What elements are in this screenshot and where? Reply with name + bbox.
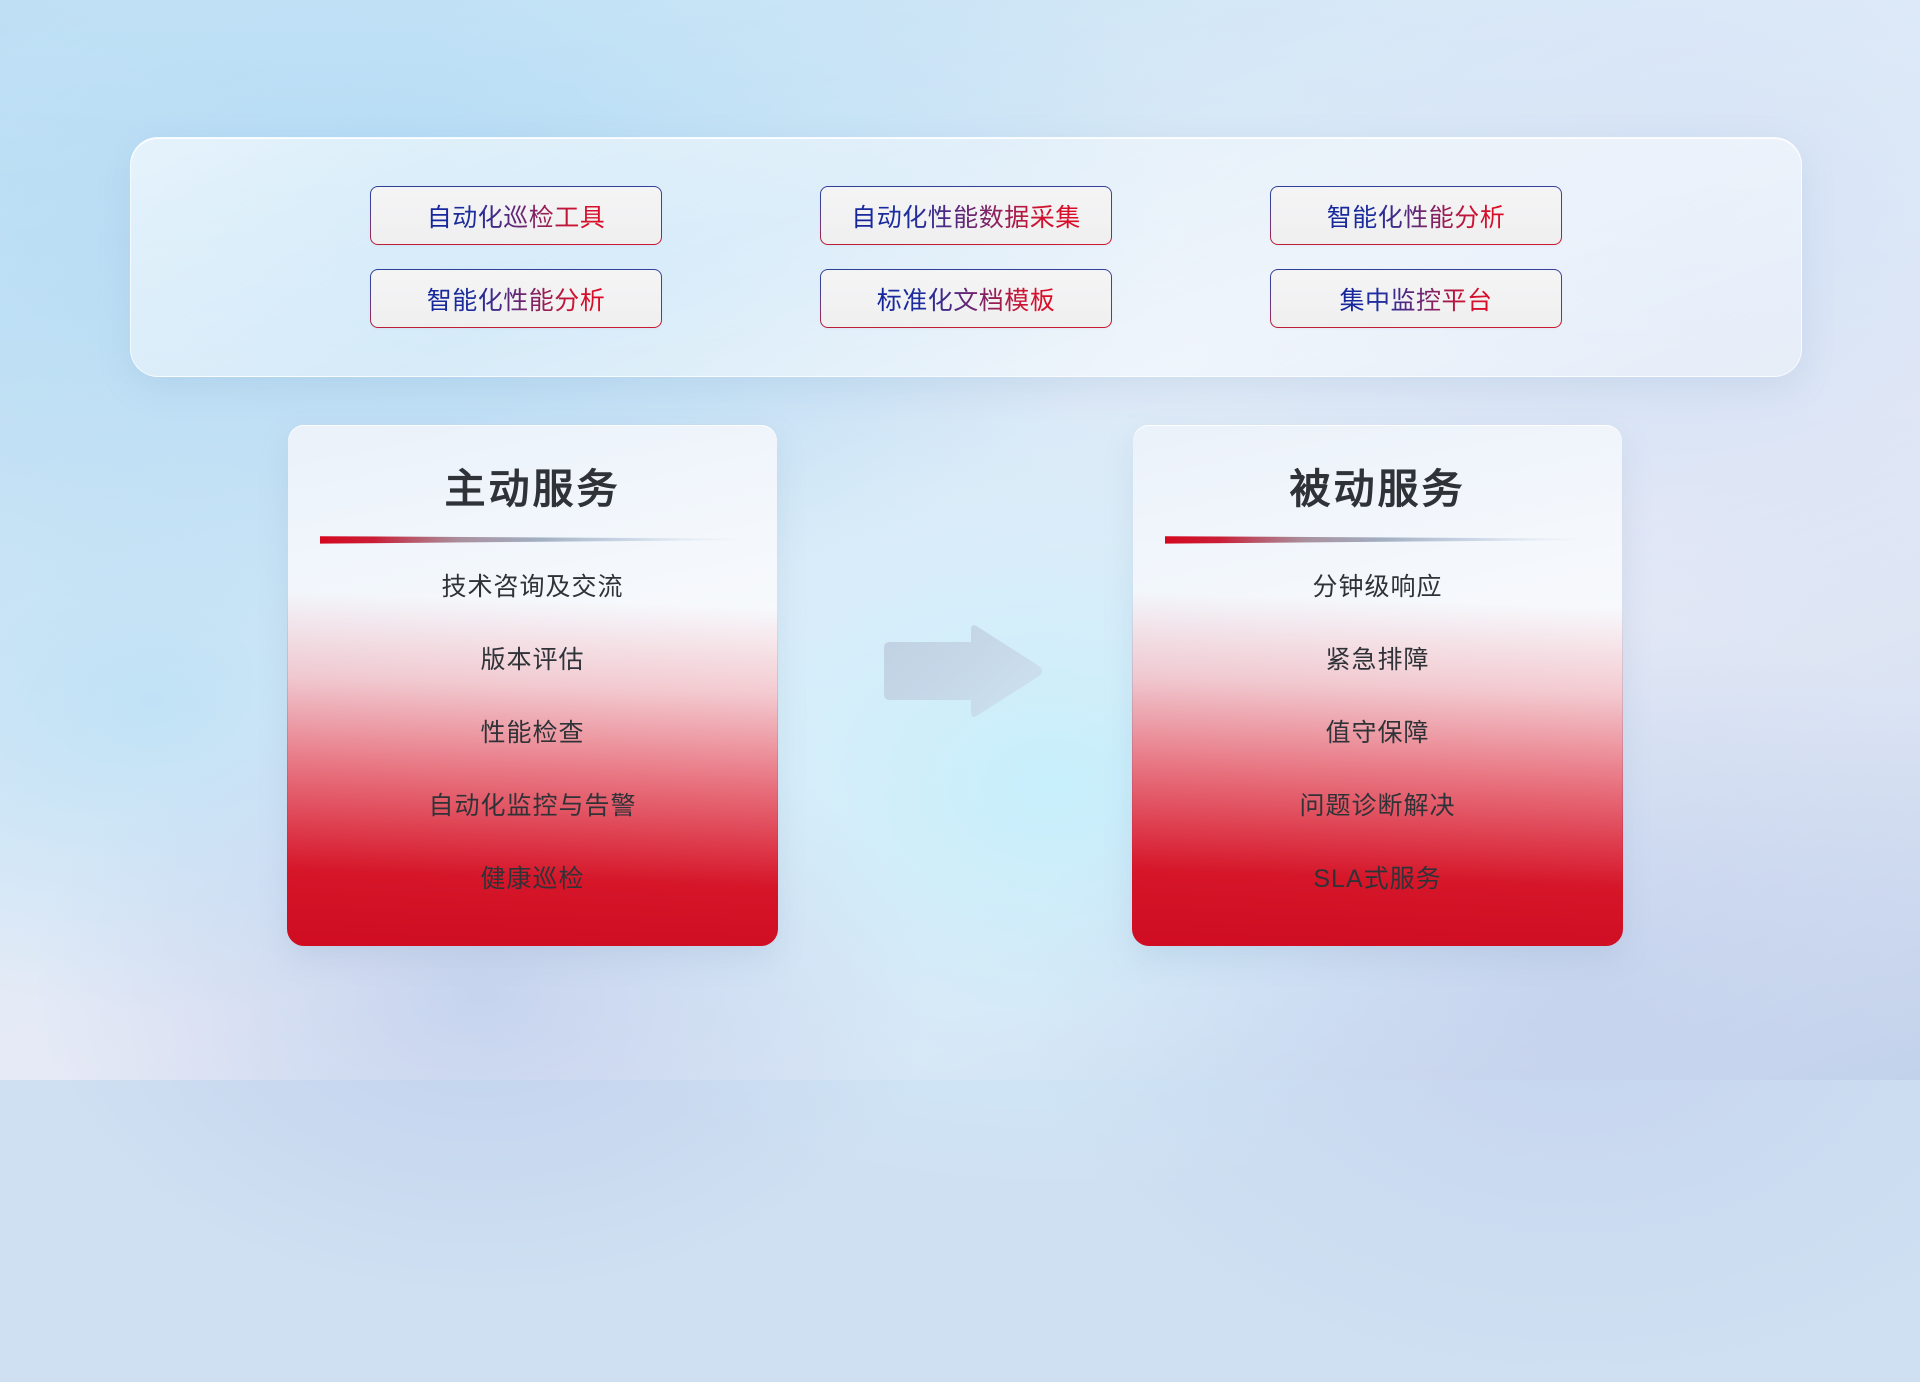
list-item: 自动化监控与告警 — [428, 794, 636, 819]
card-title: 主动服务 — [288, 455, 777, 515]
title-divider-icon — [1165, 535, 1589, 544]
chip-label: 自动化巡检工具 — [427, 198, 606, 234]
chip-intelligent-performance-analysis-2[interactable]: 智能化性能分析 — [371, 270, 661, 327]
chip-automated-inspection-tool[interactable]: 自动化巡检工具 — [371, 187, 661, 244]
chip-label: 智能化性能分析 — [427, 281, 606, 317]
list-item: 分钟级响应 — [1312, 575, 1442, 600]
chip-label: 自动化性能数据采集 — [851, 198, 1081, 234]
proactive-service-list: 技术咨询及交流 版本评估 性能检查 自动化监控与告警 健康巡检 — [288, 575, 777, 940]
list-item: 性能检查 — [480, 721, 584, 746]
chip-automated-performance-data-collection[interactable]: 自动化性能数据采集 — [821, 187, 1111, 244]
reactive-service-list: 分钟级响应 紧急排障 值守保障 问题诊断解决 SLA式服务 — [1133, 575, 1622, 940]
list-item: 技术咨询及交流 — [441, 575, 623, 600]
reactive-service-card: 被动服务 分钟级响应 紧急排障 值守保障 问题诊断解决 SLA式服务 — [1133, 425, 1622, 945]
list-item: 值守保障 — [1325, 721, 1429, 746]
list-item: 健康巡检 — [480, 867, 584, 892]
chip-label: 智能化性能分析 — [1327, 198, 1506, 234]
capability-chip-panel: 自动化巡检工具 自动化性能数据采集 智能化性能分析 智能化性能分析 标准化文档模… — [130, 137, 1802, 377]
chip-intelligent-performance-analysis-1[interactable]: 智能化性能分析 — [1271, 187, 1561, 244]
chip-label: 标准化文档模板 — [877, 281, 1056, 317]
chip-standardized-document-template[interactable]: 标准化文档模板 — [821, 270, 1111, 327]
chip-label: 集中监控平台 — [1339, 281, 1492, 317]
chip-centralized-monitoring-platform[interactable]: 集中监控平台 — [1271, 270, 1561, 327]
right-arrow-icon — [878, 622, 1044, 720]
chip-grid: 自动化巡检工具 自动化性能数据采集 智能化性能分析 智能化性能分析 标准化文档模… — [131, 138, 1801, 376]
proactive-service-card: 主动服务 技术咨询及交流 版本评估 性能检查 自动化监控与告警 健康巡检 — [288, 425, 777, 945]
list-item: 版本评估 — [480, 648, 584, 673]
card-title: 被动服务 — [1133, 455, 1622, 515]
list-item: 紧急排障 — [1325, 648, 1429, 673]
list-item: 问题诊断解决 — [1299, 794, 1455, 819]
list-item: SLA式服务 — [1313, 867, 1441, 892]
title-divider-icon — [320, 535, 744, 544]
